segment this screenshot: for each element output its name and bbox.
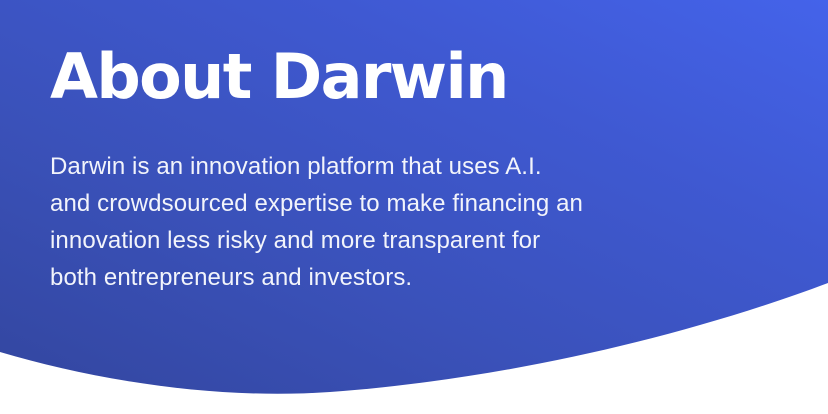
description-line: innovation less risky and more transpare… [50, 222, 610, 259]
description-line: Darwin is an innovation platform that us… [50, 148, 610, 185]
description-line: both entrepreneurs and investors. [50, 259, 610, 296]
description-line: and crowdsourced expertise to make finan… [50, 185, 610, 222]
page-title: About Darwin [50, 44, 508, 110]
about-darwin-hero-section: About Darwin Darwin is an innovation pla… [0, 0, 828, 414]
hero-text-container: About Darwin Darwin is an innovation pla… [0, 0, 828, 414]
hero-description: Darwin is an innovation platform that us… [50, 148, 610, 296]
